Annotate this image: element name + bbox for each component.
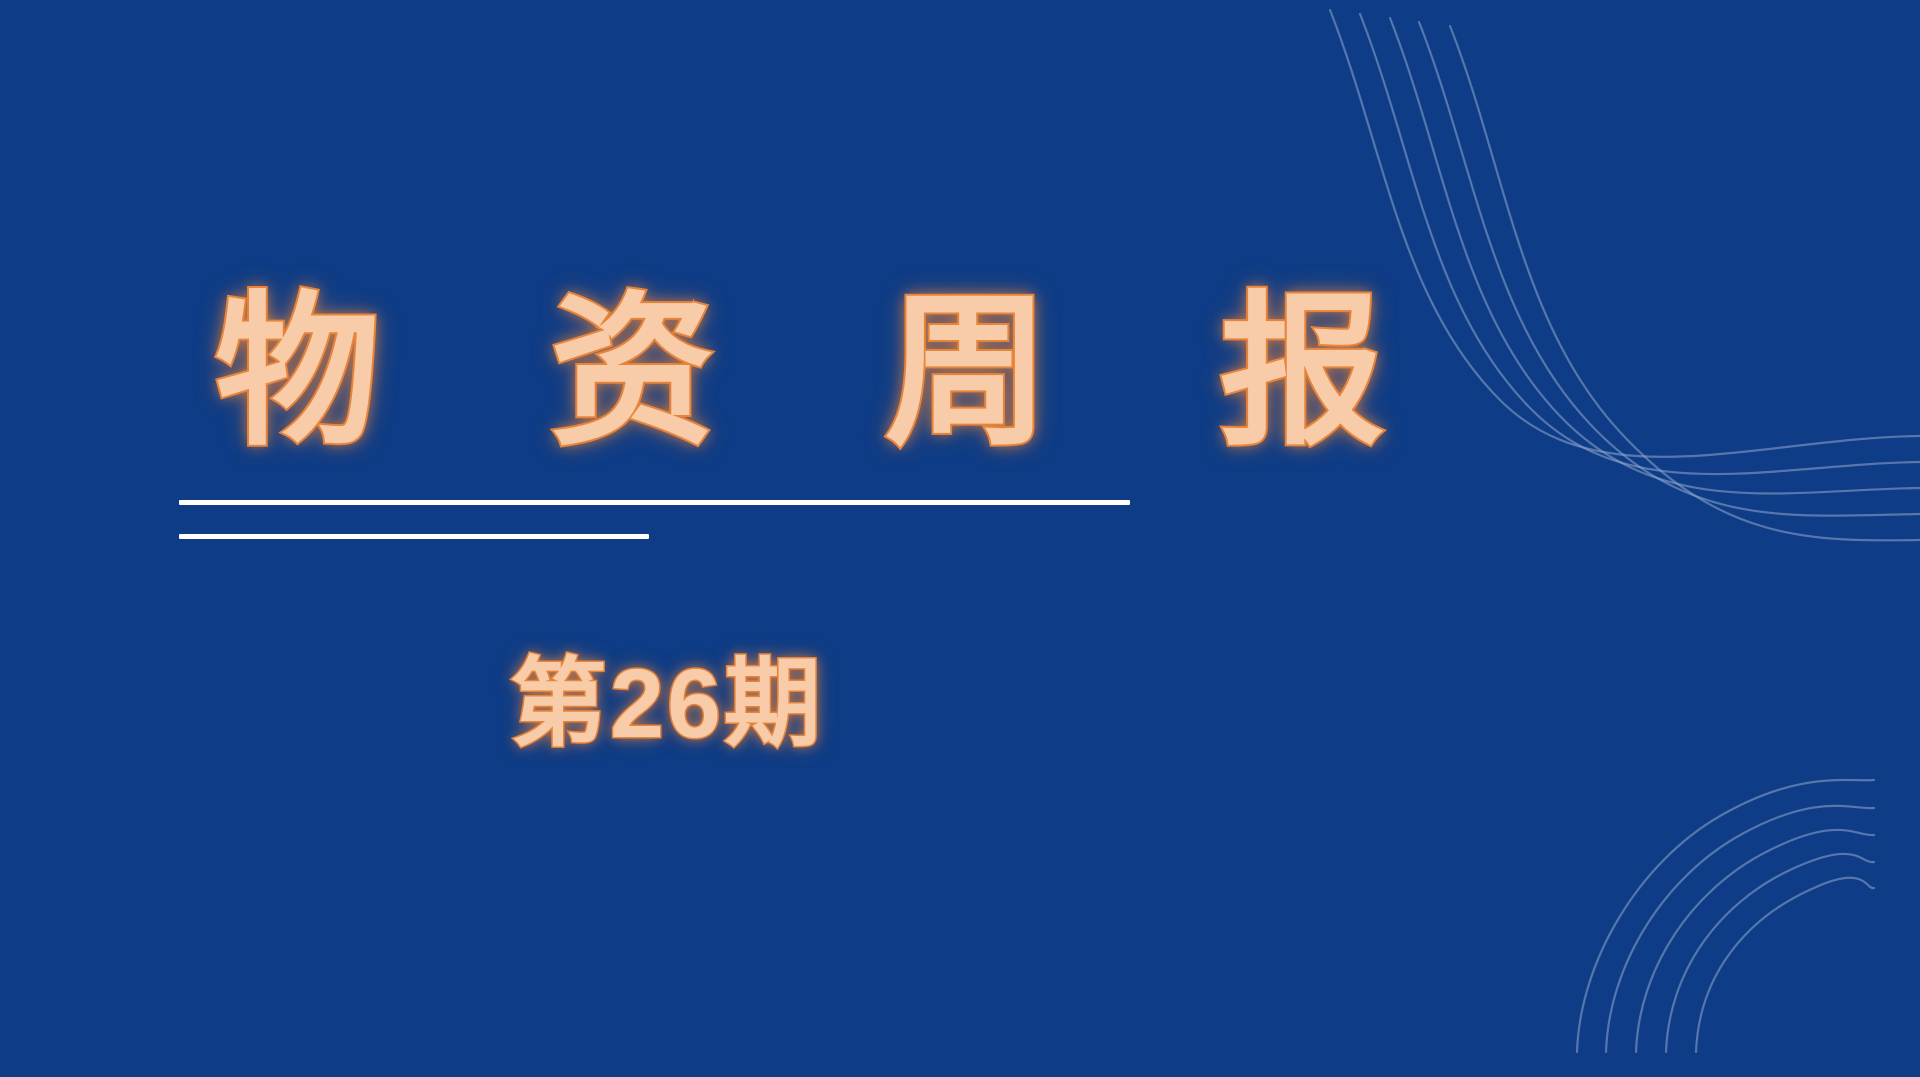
bottom-right-arc-group (1577, 780, 1874, 1052)
divider-rule-long (179, 500, 1130, 505)
page-title: 物 资 周 报 (179, 290, 1179, 455)
arc-line-5 (1696, 878, 1874, 1052)
arc-line-4 (1666, 854, 1874, 1052)
wave-line-3 (1390, 18, 1920, 494)
title-block: 物 资 周 报 (179, 290, 1179, 455)
title-slide: 物 资 周 报 第26期 (0, 0, 1920, 1077)
wave-line-5 (1450, 26, 1920, 540)
wave-line-4 (1419, 22, 1920, 516)
arc-line-1 (1577, 780, 1874, 1052)
arc-line-2 (1606, 806, 1874, 1052)
divider-rule-short (179, 534, 649, 539)
arc-line-3 (1636, 830, 1874, 1052)
issue-subtitle: 第26期 (510, 648, 824, 760)
